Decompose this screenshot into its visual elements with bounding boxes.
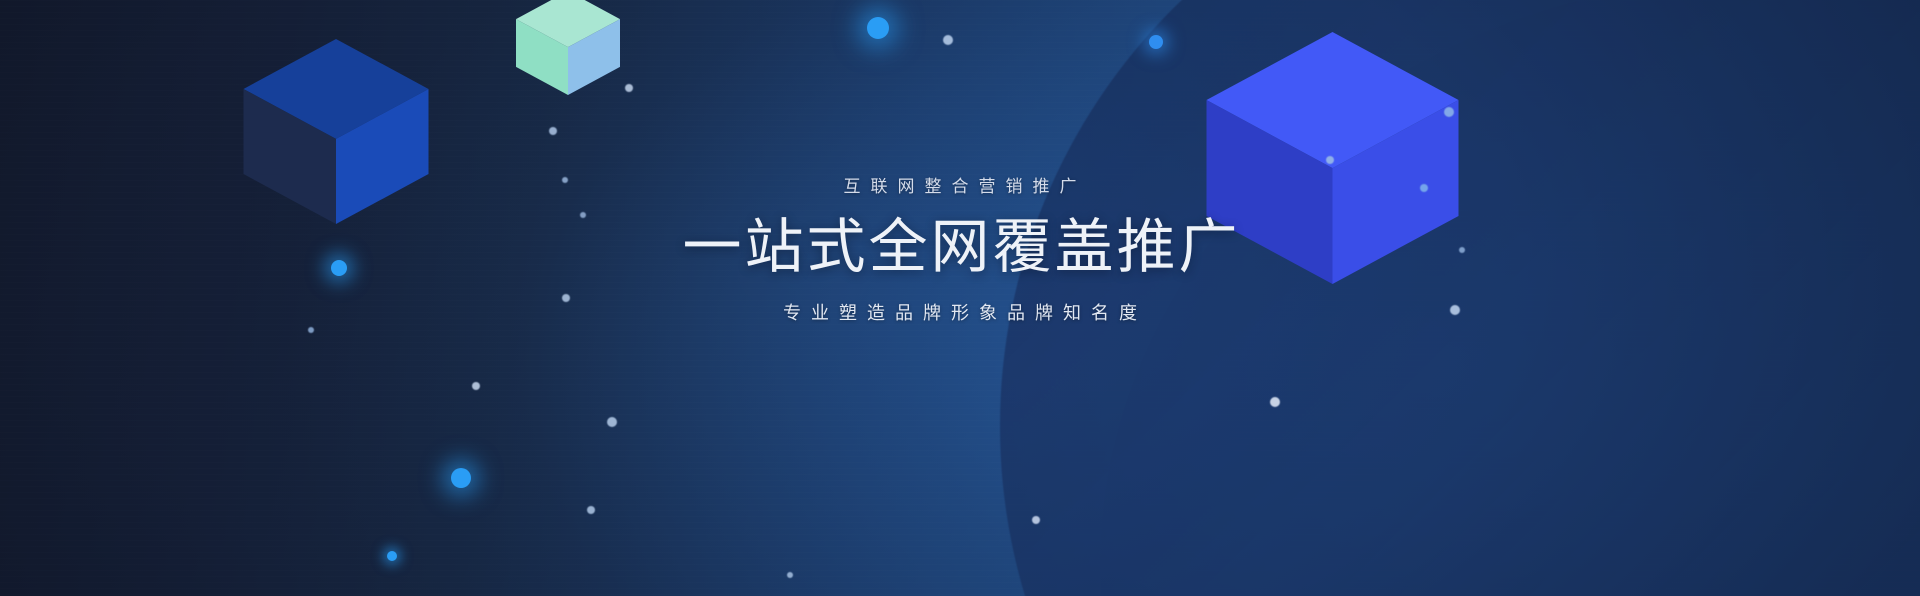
particle-dot (1444, 107, 1454, 117)
teal-cube-icon (516, 0, 620, 98)
particle-dot (387, 551, 397, 561)
particle-dot (625, 84, 633, 92)
particle-dot (451, 468, 471, 488)
banner-eyebrow: 互联网整合营销推广 (0, 178, 1920, 197)
particle-dot (607, 417, 617, 427)
promo-banner: 互联网整合营销推广 一站式全网覆盖推广 专业塑造品牌形象品牌知名度 (0, 0, 1920, 596)
particle-dot (787, 572, 793, 578)
particle-dot (1149, 35, 1163, 49)
banner-headline: 一站式全网覆盖推广 (0, 214, 1920, 280)
particle-dot (943, 35, 953, 45)
particle-dot (308, 327, 314, 333)
particle-dot (867, 17, 889, 39)
particle-dot (549, 127, 557, 135)
particle-dot (1270, 397, 1280, 407)
particle-dot (472, 382, 480, 390)
particle-dot (1032, 516, 1040, 524)
particle-dot (1326, 156, 1334, 164)
banner-subline: 专业塑造品牌形象品牌知名度 (0, 304, 1920, 324)
banner-copy: 互联网整合营销推广 一站式全网覆盖推广 专业塑造品牌形象品牌知名度 (0, 178, 1920, 324)
particle-dot (587, 506, 595, 514)
